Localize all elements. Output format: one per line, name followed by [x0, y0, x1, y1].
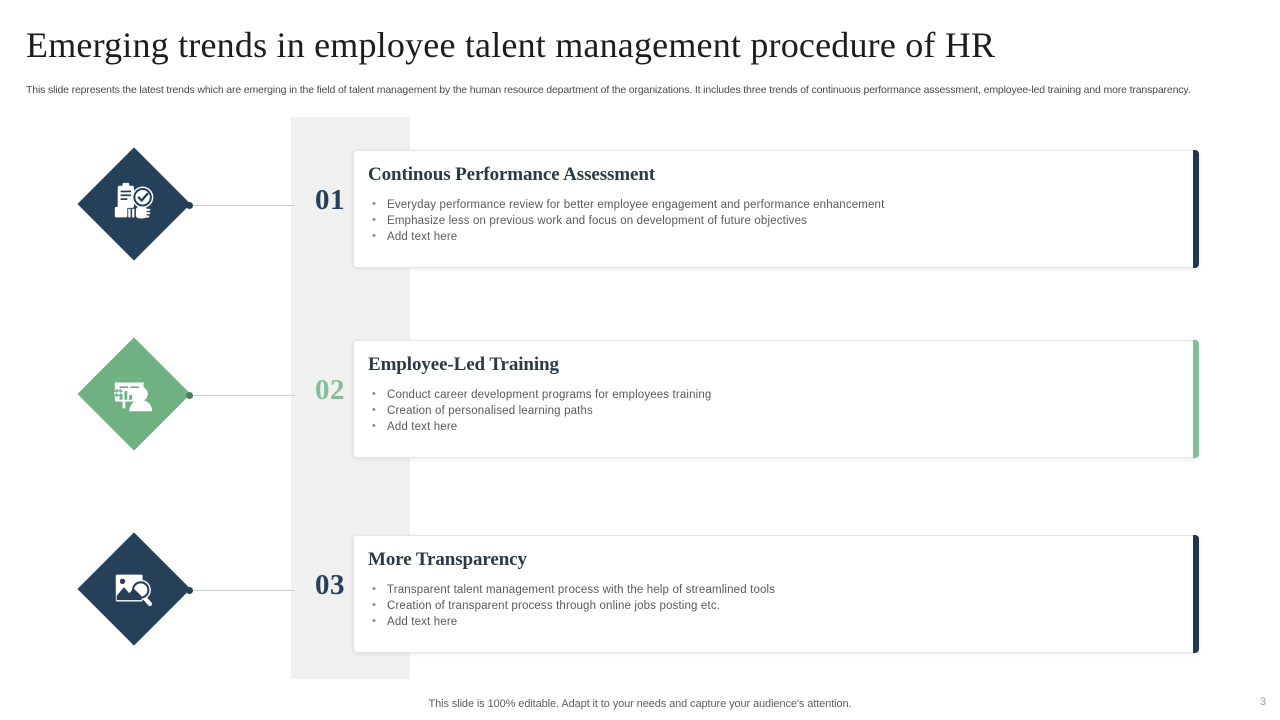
step-row-1: 01 Continous Performance Assessment Ever…	[0, 130, 1280, 290]
step-3-diamond[interactable]	[80, 535, 188, 643]
step-1-connector-line	[193, 205, 295, 206]
step-row-3: 03 More Transparency Transparent talent …	[0, 515, 1280, 675]
step-1-title: Continous Performance Assessment	[368, 164, 655, 186]
step-1-card[interactable]: Continous Performance Assessment Everyda…	[353, 150, 1199, 268]
step-row-2: 02 Employee-Led Training Conduct career …	[0, 320, 1280, 480]
list-item: Creation of personalised learning paths	[368, 403, 1178, 419]
step-2-connector-dot	[186, 392, 193, 399]
step-2-bullet-list: Conduct career development programs for …	[368, 387, 1178, 435]
list-item: Transparent talent management process wi…	[368, 582, 1178, 598]
step-3-connector-line	[193, 590, 295, 591]
step-2-diamond[interactable]	[80, 340, 188, 448]
step-3-number: 03	[300, 569, 360, 602]
image-magnifier-icon	[111, 566, 157, 612]
step-2-number: 02	[300, 374, 360, 407]
list-item: Everyday performance review for better e…	[368, 197, 1178, 213]
slide-canvas: Emerging trends in employee talent manag…	[0, 0, 1280, 720]
step-2-title: Employee-Led Training	[368, 354, 559, 376]
step-1-bullet-list: Everyday performance review for better e…	[368, 197, 1178, 245]
clipboard-check-hand-icon	[111, 181, 157, 227]
step-3-title: More Transparency	[368, 549, 527, 571]
presentation-board-person-icon	[111, 371, 157, 417]
step-2-card[interactable]: Employee-Led Training Conduct career dev…	[353, 340, 1199, 458]
step-3-connector-dot	[186, 587, 193, 594]
step-2-connector-line	[193, 395, 295, 396]
footer-note: This slide is 100% editable. Adapt it to…	[0, 698, 1280, 710]
list-item: Emphasize less on previous work and focu…	[368, 213, 1178, 229]
step-3-bullet-list: Transparent talent management process wi…	[368, 582, 1178, 630]
step-1-diamond[interactable]	[80, 150, 188, 258]
list-item: Add text here	[368, 614, 1178, 630]
step-1-accent-bar	[1193, 150, 1199, 268]
list-item: Creation of transparent process through …	[368, 598, 1178, 614]
step-2-accent-bar	[1193, 340, 1199, 458]
step-3-card[interactable]: More Transparency Transparent talent man…	[353, 535, 1199, 653]
page-number: 3	[1260, 696, 1266, 708]
list-item: Add text here	[368, 229, 1178, 245]
step-1-number: 01	[300, 184, 360, 217]
list-item: Add text here	[368, 419, 1178, 435]
page-title: Emerging trends in employee talent manag…	[26, 24, 1256, 66]
list-item: Conduct career development programs for …	[368, 387, 1178, 403]
step-3-accent-bar	[1193, 535, 1199, 653]
page-subtitle: This slide represents the latest trends …	[26, 83, 1234, 97]
step-1-connector-dot	[186, 202, 193, 209]
